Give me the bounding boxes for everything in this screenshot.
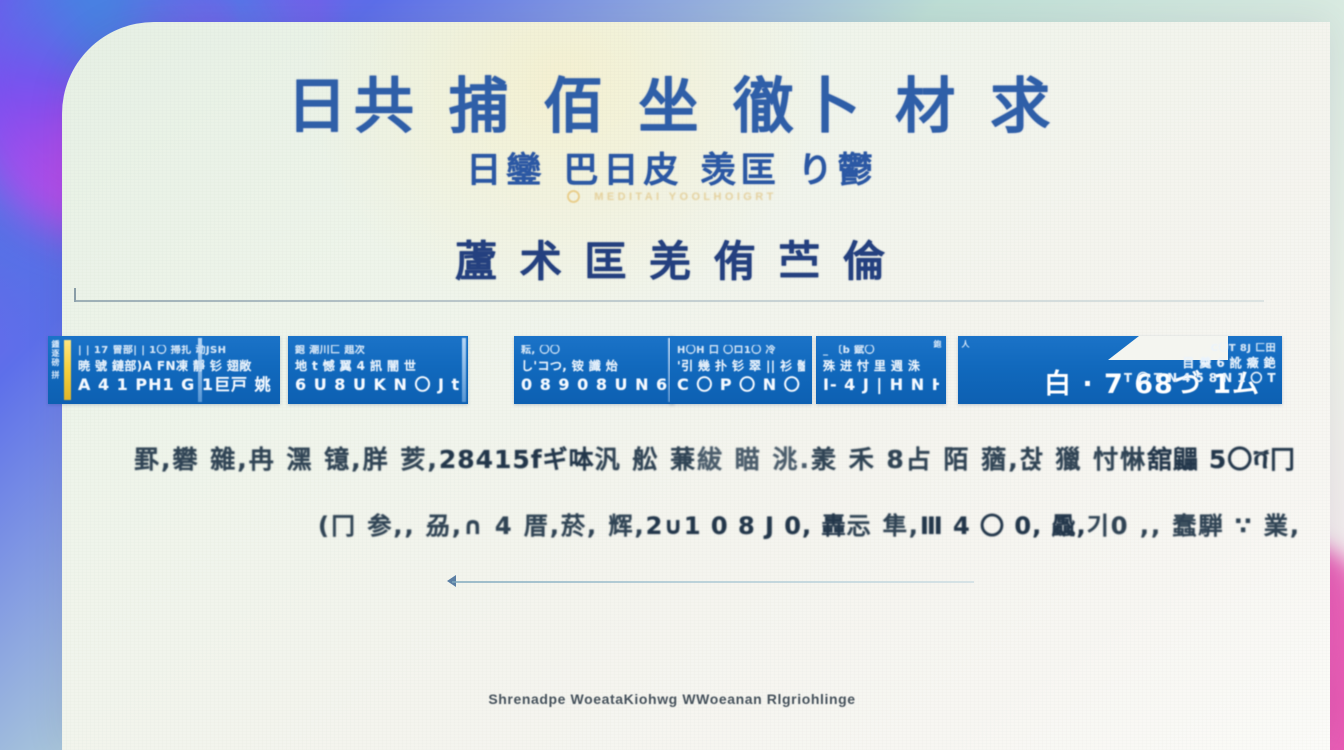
- label-row-2-cell-4: 2∪1 0 8 J 0, 轟: [646, 506, 847, 541]
- card-5-line-1: _ 〔b 錻〇: [823, 345, 939, 358]
- card-1[interactable]: 鍾逐磅 拼 | | 17 曾部| | 1〇 掃扎 动JSH 暁 號 鏈部)A F…: [48, 336, 280, 404]
- slide-content: 日共 捕 佰 坐 徹卜 材 求 日鑾 巴日皮 羡匡 り鬱 MEDITAI YOO…: [0, 0, 1344, 750]
- card-strip: 鍾逐磅 拼 | | 17 曾部| | 1〇 掃扎 动JSH 暁 號 鏈部)A F…: [48, 336, 1282, 404]
- card-5-line-2: 殊 进 忖 里 週 洙: [823, 359, 939, 374]
- page-subtitle: 日鑾 巴日皮 羡匡 り鬱: [0, 142, 1344, 193]
- card-4-line-3: C 〇 P 〇 N 〇 N 1 1, N A H F F: [677, 375, 805, 395]
- card-3-line-2: し'コつ, 铵 讖 炲: [521, 359, 667, 374]
- label-row-2-cell-2: ∩ 4 厝,: [463, 506, 561, 541]
- ring-icon: [567, 190, 580, 203]
- label-row-2-cell-5: 忈 隼,: [846, 506, 919, 541]
- card-4-line-1: H〇H 口 〇ロ1〇 冷: [677, 345, 805, 358]
- divider-top: [74, 300, 1264, 302]
- page-title: 日共 捕 佰 坐 徹卜 材 求: [0, 58, 1344, 145]
- page-tertiary-title: 蘆 术 匡 羌 侑 苎 倫: [0, 228, 1344, 289]
- card-1-line-1: | | 17 曾部| | 1〇 掃扎 动JSH: [78, 345, 273, 358]
- label-row-1: 罫, 礬 雜, 冉 潶 镱, 羘 荄, 28415fギ呠 汎 舩 蒹 紱 瞄 洮…: [48, 440, 1282, 476]
- card-3[interactable]: 耘, 〇〇 し'コつ, 铵 讖 炲 0 8 9 0 8 U N 6 4 1: [514, 336, 674, 404]
- card-1-line-2: 暁 號 鏈部)A FN凍 靜 钐 翅敞: [78, 359, 273, 374]
- label-row-1-cell-4: 羘 荄,: [363, 440, 439, 476]
- card-6-line-2: 目 羹 6 訛 癥 銫: [1124, 356, 1276, 371]
- label-row-1-cell-2: 礬 雜,: [173, 440, 249, 476]
- label-row-1-cell-1: 罫,: [134, 440, 173, 476]
- label-row-1-cell-10: 舘鼺 5〇ቫ冂: [1147, 440, 1296, 476]
- label-row-1-cell-9: 찭 獵 忖惏: [1020, 440, 1147, 476]
- badge-label: MEDITAI YOOLHOIGRT: [594, 191, 776, 203]
- label-row-1-cell-7: 紱 瞄 洮.: [697, 440, 811, 476]
- card-4[interactable]: H〇H 口 〇ロ1〇 冷 '引 幾 扑 钐 翠 || 衫 髗 浅 C 〇 P 〇…: [670, 336, 812, 404]
- card-6-vertical-label: 人: [960, 340, 971, 400]
- divider-bottom: [452, 581, 974, 583]
- card-5[interactable]: _ 〔b 錻〇 殊 进 忖 里 週 洙 I- 4 J | H N H I F 8…: [816, 336, 946, 404]
- label-row-1-cell-6: 汎 舩 蒹: [595, 440, 697, 476]
- label-row-1-cell-5: 28415fギ呠: [439, 440, 595, 476]
- badge-row: MEDITAI YOOLHOIGRT: [0, 190, 1344, 203]
- label-row-2-cell-8: 騨 ∵ 業,: [1198, 506, 1301, 541]
- footer-caption: Shrenadpe WoeataKiohwg WWoeanan Rlgriohl…: [0, 691, 1344, 707]
- label-row-2-cell-7: 기0 ,, 蠢: [1087, 506, 1199, 541]
- card-2[interactable]: 鉋 潮川匚 趄次 地 t 憾 翼 4 訊 闇 世 6 U 8 U K N 〇 J…: [288, 336, 468, 404]
- label-row-2: (冂 参,, 刕, ∩ 4 厝, 菸, 辉, 2∪1 0 8 J 0, 轟 忈 …: [48, 506, 1282, 541]
- label-row-1-cell-8: 羕 禾 8占 陌 蕕,: [811, 440, 1020, 476]
- card-5-line-3: I- 4 J | H N H I F 8 J: [823, 375, 939, 395]
- card-2-line-3: 6 U 8 U K N 〇 J t 4 8 U 5 9: [295, 375, 461, 395]
- card-1-line-3: A 4 1 PH1 G 1巨戸 姚 翆 剗 00: [78, 375, 273, 395]
- card-6[interactable]: 人 白 · 7 68づ 1ム C〇T 8J 匚田 目 羹 6 訛 癥 銫 T 〇…: [958, 336, 1282, 404]
- label-row-2-cell-1: (冂 参,, 刕,: [318, 506, 463, 541]
- card-6-line-1: C〇T 8J 匚田: [1124, 343, 1276, 356]
- card-2-line-2: 地 t 憾 翼 4 訊 闇 世: [295, 359, 461, 374]
- label-row-2-cell-6: Ⅲ 4 〇 0, 飍,: [920, 506, 1087, 541]
- slide-canvas: 日共 捕 佰 坐 徹卜 材 求 日鑾 巴日皮 羡匡 り鬱 MEDITAI YOO…: [0, 0, 1344, 750]
- card-5-vertical-label: 鉋: [932, 340, 943, 400]
- card-2-line-1: 鉋 潮川匚 趄次: [295, 345, 461, 358]
- card-3-line-1: 耘, 〇〇: [521, 345, 667, 358]
- label-row-2-cell-3: 菸, 辉,: [561, 506, 646, 541]
- card-3-line-3: 0 8 9 0 8 U N 6 4 1: [521, 375, 667, 395]
- label-row-1-cell-3: 冉 潶 镱,: [249, 440, 363, 476]
- card-4-line-2: '引 幾 扑 钐 翠 || 衫 髗 浅: [677, 359, 805, 374]
- card-6-line-3: T 〇 T N 4 5 8 N 1 〇 T: [1124, 371, 1276, 386]
